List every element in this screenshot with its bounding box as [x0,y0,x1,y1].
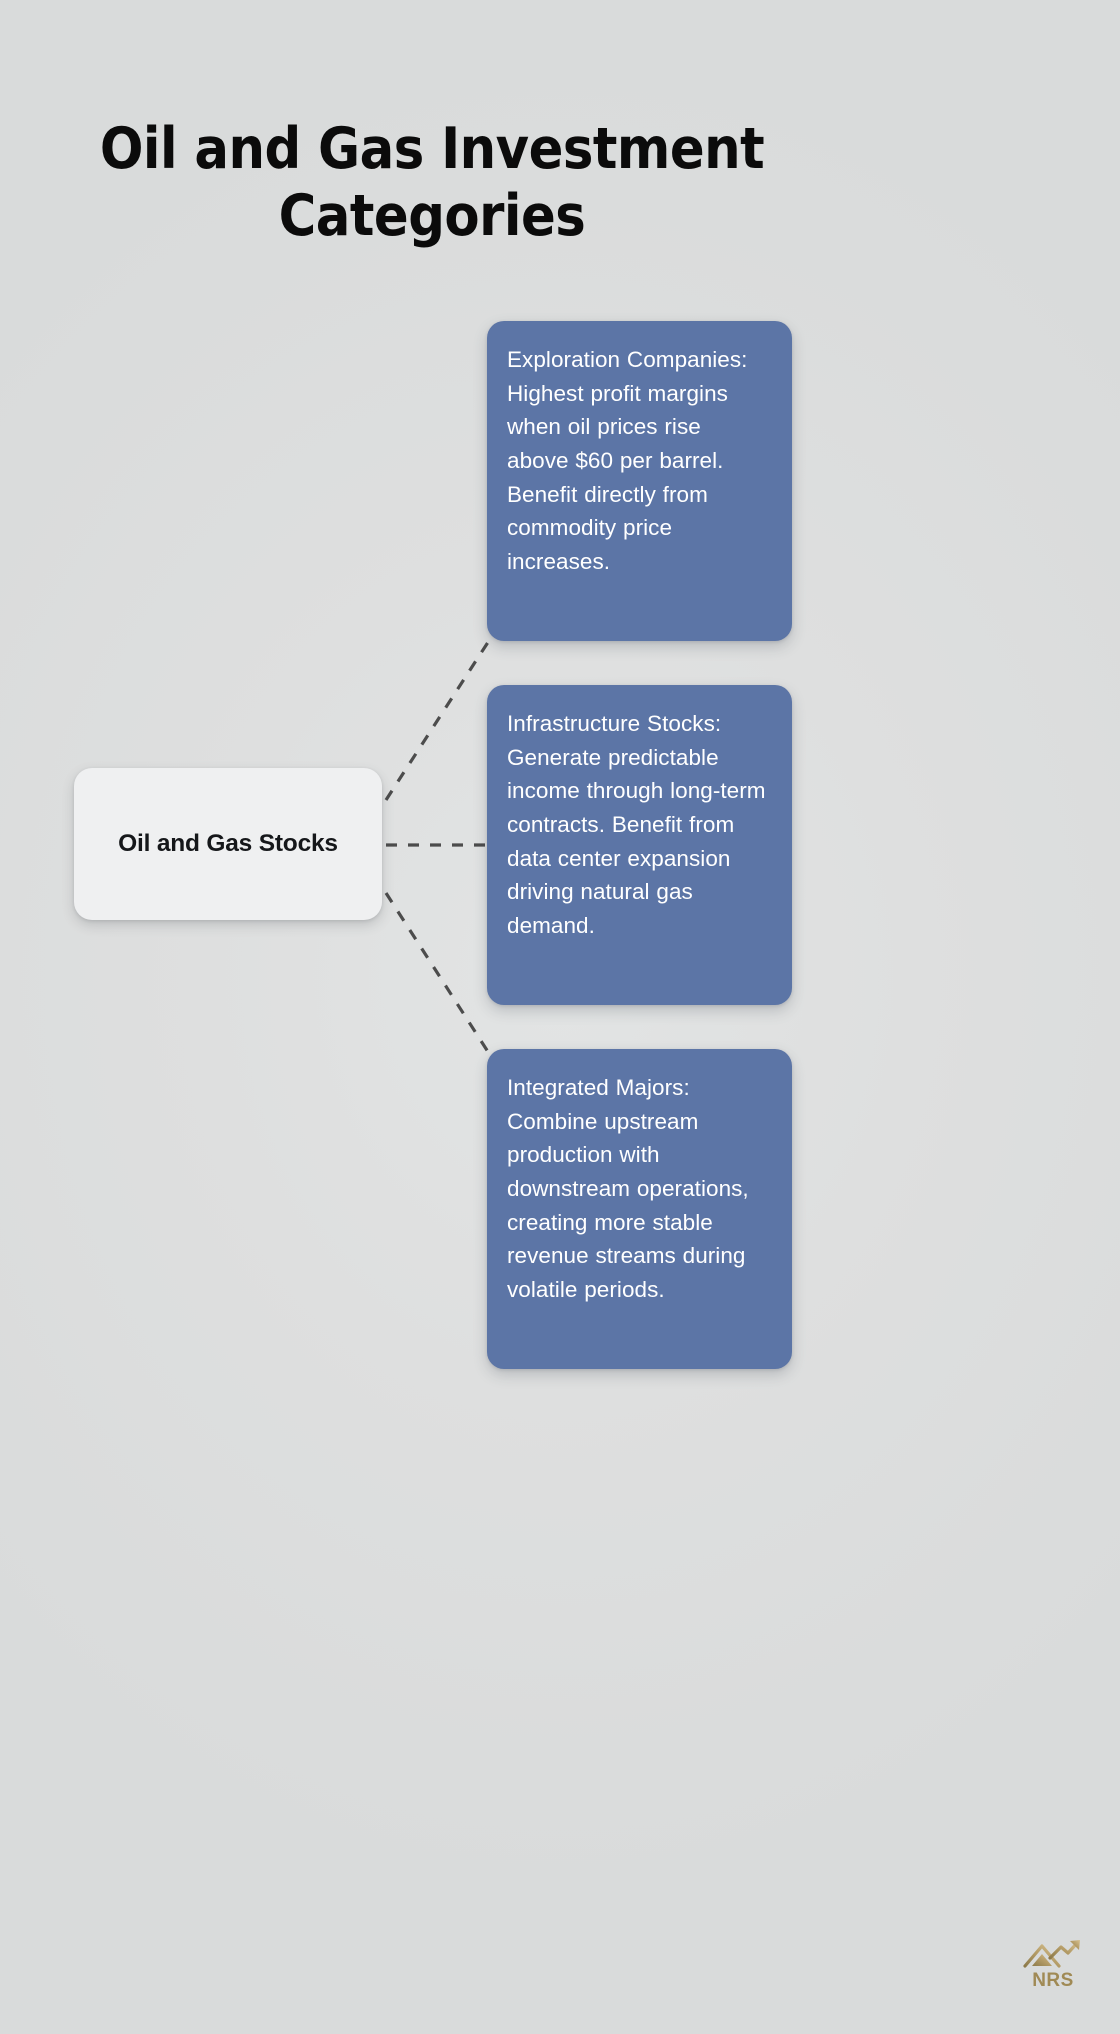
page-title: Oil and Gas Investment Categories [0,116,864,251]
mountain-chart-arrow-icon [1023,1937,1083,1969]
connector-to-integrated [386,893,492,1058]
nrs-logo: NRS [1022,1934,1084,1990]
branch-card-text: Integrated Majors: Combine upstream prod… [507,1071,768,1306]
page-title-line-2: Categories [60,183,804,250]
center-node-label: Oil and Gas Stocks [104,830,352,858]
connector-to-exploration [386,636,492,800]
nrs-logo-text: NRS [1032,1971,1074,1990]
branch-card-infrastructure-stocks[interactable]: Infrastructure Stocks: Generate predicta… [487,685,792,1005]
branch-card-text: Exploration Companies: Highest profit ma… [507,343,768,578]
connector-lines [0,0,1120,2034]
branch-card-text: Infrastructure Stocks: Generate predicta… [507,707,768,942]
branch-card-integrated-majors[interactable]: Integrated Majors: Combine upstream prod… [487,1049,792,1369]
center-node[interactable]: Oil and Gas Stocks [74,768,382,920]
branch-card-exploration-companies[interactable]: Exploration Companies: Highest profit ma… [487,321,792,641]
diagram-canvas: Oil and Gas Investment Categories Oil an… [0,0,1120,2034]
page-title-line-1: Oil and Gas Investment [60,116,804,183]
